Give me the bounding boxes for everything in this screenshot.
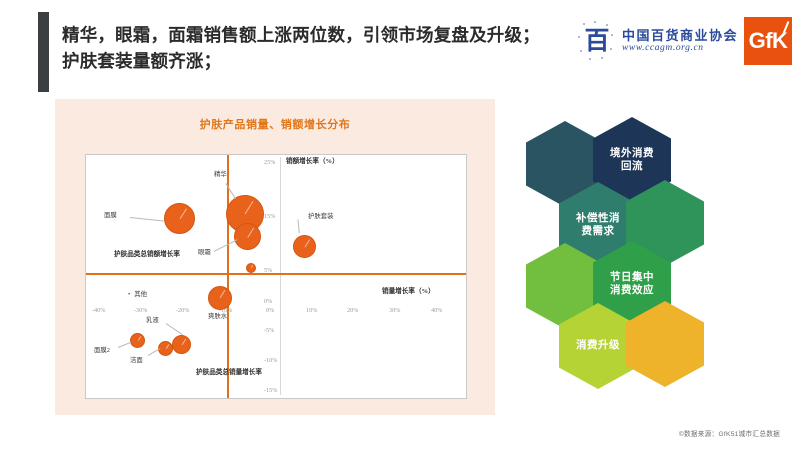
y-tick-label: 5% bbox=[264, 267, 272, 274]
hexagon-label: 消费升级 bbox=[575, 339, 621, 352]
bubble-label-jiemian: 洁面 bbox=[130, 355, 143, 364]
bubble-yanshuang bbox=[234, 223, 261, 250]
y-tick-label: -10% bbox=[264, 357, 277, 364]
gfk-logo: GfK bbox=[744, 17, 792, 65]
title-accent-bar bbox=[38, 12, 49, 92]
ccagm-mark-icon: 百 bbox=[577, 21, 617, 61]
ccagm-association-name: 中国百货商业协会 bbox=[622, 28, 738, 43]
bubble-hufutaozhuang bbox=[293, 235, 316, 258]
hexagon-label: 境外消费回流 bbox=[609, 147, 655, 174]
leader-line bbox=[298, 219, 300, 233]
hexagon-label: 补偿性消费需求 bbox=[575, 212, 621, 239]
chart-plot-frame: -40% -30% -20% -10% 0% 10% 20% 30% 40% 2… bbox=[85, 154, 467, 399]
x-axis-title: 销量增长率（%） bbox=[382, 288, 435, 297]
x-tick-label: 30% bbox=[389, 307, 400, 314]
bubble-label-mianmo-2: 面膜2 bbox=[94, 345, 110, 354]
x-tick-label: -30% bbox=[134, 307, 147, 314]
logo-cluster: 百 中国百货商业协会 www.ccagm.org.cn GfK bbox=[577, 14, 792, 68]
y-origin-axis-title: 护肤品类总销额增长率 bbox=[110, 251, 184, 260]
ccagm-text-block: 中国百货商业协会 www.ccagm.org.cn bbox=[622, 28, 738, 55]
bubble-mianshuang bbox=[246, 263, 256, 273]
x-axis-line bbox=[86, 273, 466, 275]
y-tick-label: -15% bbox=[264, 387, 277, 394]
leader-line bbox=[166, 323, 183, 335]
x-tick-label: -20% bbox=[176, 307, 189, 314]
x-tick-label: 40% bbox=[431, 307, 442, 314]
leader-line bbox=[130, 217, 164, 221]
leader-line bbox=[214, 239, 238, 252]
chart-panel: 护肤产品销量、销额增长分布 -40% -30% -20% -10% 0% 10%… bbox=[55, 99, 495, 415]
y-axis-line bbox=[227, 155, 229, 398]
headline-line-2: 护肤套装量额齐涨； bbox=[62, 48, 562, 74]
bubble-label-shuangfushui: 爽肤水 bbox=[208, 311, 227, 320]
bubble-mianmo-2 bbox=[130, 333, 145, 348]
ccagm-glyph: 百 bbox=[577, 21, 617, 61]
bubble-mianmo bbox=[164, 203, 195, 234]
y-axis-title: 销额增长率（%） bbox=[286, 158, 339, 167]
headline-line-1: 精华，眼霜，面霜销售额上涨两位数，引领市场复盘及升级； bbox=[62, 22, 562, 48]
quadrant-note: •其他 bbox=[128, 289, 147, 298]
ccagm-website-url: www.ccagm.org.cn bbox=[622, 43, 738, 54]
leader-line bbox=[118, 342, 131, 348]
bubble-label-jinghua: 精华 bbox=[214, 169, 227, 178]
page-title: 精华，眼霜，面霜销售额上涨两位数，引领市场复盘及升级； 护肤套装量额齐涨； bbox=[62, 22, 562, 75]
x-tick-label: 20% bbox=[347, 307, 358, 314]
source-note: ©数据来源：GfK51城市汇总数据 bbox=[679, 428, 780, 438]
y-axis-rule-lower bbox=[280, 275, 281, 395]
y-tick-label: 25% bbox=[264, 159, 275, 166]
bubble-label-mianmo: 面膜 bbox=[104, 210, 117, 219]
bubble-label-ruye: 乳液 bbox=[146, 315, 159, 324]
x-origin-axis-title: 护肤品类总销量增长率 bbox=[196, 369, 262, 378]
bubble-ruye bbox=[172, 335, 191, 354]
ccagm-logo: 百 中国百货商业协会 www.ccagm.org.cn bbox=[577, 21, 738, 61]
chart-title: 护肤产品销量、销额增长分布 bbox=[55, 116, 495, 132]
x-tick-label: -40% bbox=[92, 307, 105, 314]
quadrant-note-label: 其他 bbox=[134, 291, 147, 298]
hexagon-diagram: 境外消费回流 补偿性消费需求 节日集中消费效应 消费升级 bbox=[512, 105, 772, 375]
y-tick-label: 0% bbox=[264, 298, 272, 305]
y-axis-rule-upper bbox=[280, 157, 281, 273]
bubble-label-yanshuang: 眼霜 bbox=[198, 247, 211, 256]
hexagon-label: 节日集中消费效应 bbox=[609, 271, 655, 298]
x-tick-label: 0% bbox=[266, 307, 274, 314]
scatter-plot: -40% -30% -20% -10% 0% 10% 20% 30% 40% 2… bbox=[86, 155, 466, 398]
y-tick-label: -5% bbox=[264, 327, 274, 334]
x-tick-label: 10% bbox=[306, 307, 317, 314]
gfk-logo-text: GfK bbox=[749, 28, 788, 54]
y-tick-label: 15% bbox=[264, 213, 275, 220]
quadrant-note-bullet: • bbox=[128, 291, 130, 298]
bubble-shuangfushui bbox=[208, 286, 232, 310]
bubble-label-hufutaozhuang: 护肤套装 bbox=[308, 211, 334, 220]
